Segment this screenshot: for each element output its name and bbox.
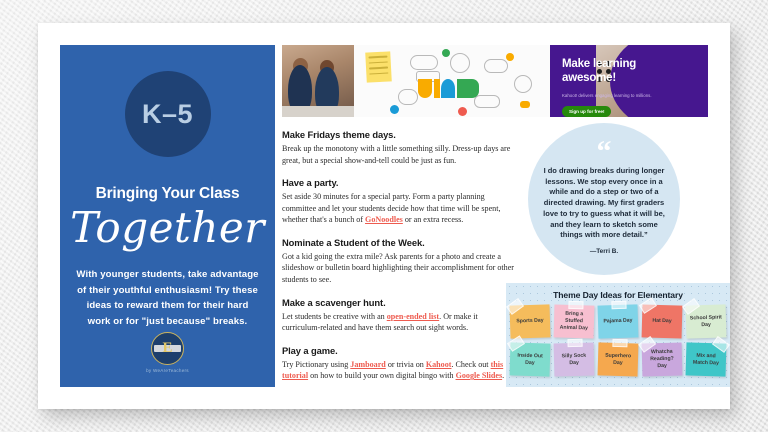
paragraph-text: . Check out <box>451 360 490 369</box>
sticky-note: Hat Day <box>642 304 683 338</box>
sticky-note: Bring a Stuffed Animal Day <box>554 304 595 338</box>
sticky-note: School Spirit Day <box>685 304 726 338</box>
sticky-note-label: Inside Out Day <box>513 352 547 367</box>
paragraph-text: or trivia on <box>386 360 426 369</box>
sticky-note-label: Sports Day <box>516 318 544 326</box>
sticky-note: Inside Out Day <box>510 342 551 376</box>
tape-icon <box>568 301 583 309</box>
paragraph-text: Got a kid going the extra mile? Ask pare… <box>282 252 514 284</box>
logo-byline: by WeAreTeachers <box>60 368 275 373</box>
sticky-note: Pajama Day <box>597 304 638 338</box>
emblem-letter: E <box>162 341 172 356</box>
inline-link[interactable]: GoNoodles <box>365 215 403 224</box>
tape-icon <box>612 339 627 347</box>
section-heading: Have a party. <box>282 177 518 188</box>
sticky-note-label: Bring a Stuffed Animal Day <box>557 311 592 332</box>
paragraph-text: or an extra recess. <box>403 215 463 224</box>
grade-badge-label: K–5 <box>142 99 193 130</box>
quote-text: I do drawing breaks during longer lesson… <box>542 166 666 242</box>
pull-quote: “ I do drawing breaks during longer less… <box>528 123 680 275</box>
sticky-note-grid: Sports DayBring a Stuffed Animal DayPaja… <box>510 305 726 376</box>
inline-link[interactable]: Kahoot <box>426 360 452 369</box>
inline-link[interactable]: open-ended list <box>387 312 439 321</box>
inline-link[interactable]: Jamboard <box>350 360 386 369</box>
paragraph-text: Break up the monotony with a little some… <box>282 144 510 165</box>
jamboard-illustration <box>354 45 550 117</box>
section-heading: Nominate a Student of the Week. <box>282 237 518 248</box>
sticky-note-label: Superhero Day <box>601 352 635 367</box>
students-photo <box>282 45 354 117</box>
shield-emblem-icon: E <box>151 332 184 365</box>
brand-logo: E by WeAreTeachers <box>60 332 275 373</box>
kahoot-ad-banner[interactable]: Make learning awesome! Kahoot! delivers … <box>550 45 708 117</box>
tape-icon <box>611 301 626 309</box>
theme-board-title: Theme Day Ideas for Elementary <box>506 290 730 300</box>
kahoot-signup-button[interactable]: Sign up for free! <box>562 106 611 117</box>
hero-script-title: Together <box>70 203 265 252</box>
section-heading: Make Fridays theme days. <box>282 129 518 140</box>
article-page-card: K–5 Bringing Your Class Together With yo… <box>38 23 730 409</box>
kahoot-headline: Make learning awesome! <box>562 58 658 85</box>
section-paragraph: Let students be creative with an open-en… <box>282 311 518 334</box>
section-paragraph: Set aside 30 minutes for a special party… <box>282 191 518 226</box>
paragraph-text: Let students be creative with an <box>282 312 387 321</box>
sticky-note-row: Inside Out DaySilly Sock DaySuperhero Da… <box>510 343 726 376</box>
paragraph-text: . <box>502 371 504 380</box>
sticky-note-label: Pajama Day <box>603 318 632 326</box>
paragraph-text: on how to build your own digital bingo w… <box>308 371 455 380</box>
paragraph-text: Try Pictionary using <box>282 360 350 369</box>
inline-link[interactable]: Google Slides <box>456 371 503 380</box>
quote-mark-icon: “ <box>597 143 612 161</box>
jamboard-logo-icon <box>418 79 479 98</box>
kahoot-subtitle: Kahoot! delivers engaging learning to mi… <box>562 93 656 100</box>
sticky-note-label: Silly Sock Day <box>557 352 591 366</box>
sticky-note: Sports Day <box>509 304 550 338</box>
sticky-note: Superhero Day <box>598 342 639 376</box>
grade-badge: K–5 <box>125 71 211 157</box>
hero-blurb: With younger students, take advantage of… <box>76 267 259 329</box>
top-image-strip: Make learning awesome! Kahoot! delivers … <box>282 45 708 117</box>
sticky-note: Whatcha Reading? Day <box>642 342 683 376</box>
section-paragraph: Try Pictionary using Jamboard or trivia … <box>282 359 518 382</box>
sticky-note-icon <box>365 51 392 82</box>
sticky-note: Silly Sock Day <box>554 342 595 376</box>
sticky-note-label: Hat Day <box>652 318 672 325</box>
sticky-note-label: Mix and Match Day <box>689 352 723 367</box>
section-paragraph: Got a kid going the extra mile? Ask pare… <box>282 251 518 286</box>
theme-day-board: Theme Day Ideas for Elementary Sports Da… <box>506 283 730 387</box>
article-body: Make Fridays theme days.Break up the mon… <box>282 129 518 382</box>
tape-icon <box>567 339 582 347</box>
section-heading: Play a game. <box>282 345 518 356</box>
sticky-note-label: School Spirit Day <box>689 314 723 329</box>
sticky-note: Mix and Match Day <box>686 342 727 376</box>
section-heading: Make a scavenger hunt. <box>282 297 518 308</box>
hero-panel: K–5 Bringing Your Class Together With yo… <box>60 45 275 387</box>
sticky-note-label: Whatcha Reading? Day <box>645 349 680 370</box>
quote-attribution: —Terri B. <box>590 248 618 255</box>
section-paragraph: Break up the monotony with a little some… <box>282 143 518 166</box>
hero-kicker: Bringing Your Class <box>72 185 263 203</box>
sticky-note-row: Sports DayBring a Stuffed Animal DayPaja… <box>510 305 726 338</box>
